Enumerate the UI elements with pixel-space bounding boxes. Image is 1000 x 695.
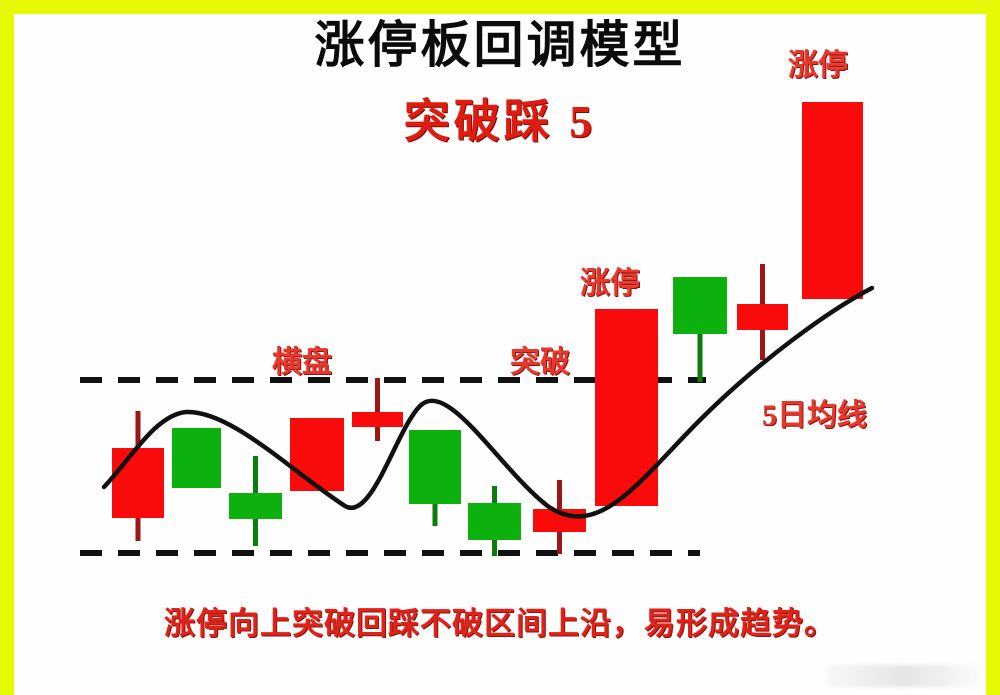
candlestick-3 [229,456,282,546]
candle-body [112,448,164,518]
annotation-consolidation: 横盘 [272,337,332,381]
candlestick-7 [468,486,521,556]
candlestick-11 [737,264,788,360]
watermark [828,665,978,687]
candlestick-2 [172,428,221,488]
candle-body [737,304,788,330]
diagram-canvas: 涨停板回调模型 突破踩 5 横盘 突破 涨停 涨停 5日均线 涨停向上突破回踩不… [0,0,1000,695]
candlesticks-group [112,102,863,556]
candlestick-5 [352,378,403,441]
candle-body [673,277,727,334]
candlestick-10 [673,277,727,382]
candle-body [468,503,521,540]
footer-caption: 涨停向上突破回踩不破区间上沿，易形成趋势。 [0,598,1000,643]
annotation-limit-up-second: 涨停 [788,40,848,84]
candle-body [352,412,403,427]
candlestick-6 [409,430,461,526]
annotation-limit-up-first: 涨停 [580,258,640,302]
candle-body [409,430,461,504]
candle-body [229,493,282,519]
candlestick-4 [290,418,344,491]
annotation-breakout: 突破 [510,337,570,381]
border-top [0,0,1000,14]
candle-body [172,428,221,488]
candlestick-1 [112,411,164,541]
annotation-ma5-label: 5日均线 [762,390,867,434]
page-subtitle: 突破踩 5 [0,85,1000,151]
candle-body [290,418,344,491]
page-title: 涨停板回调模型 [0,19,1000,72]
